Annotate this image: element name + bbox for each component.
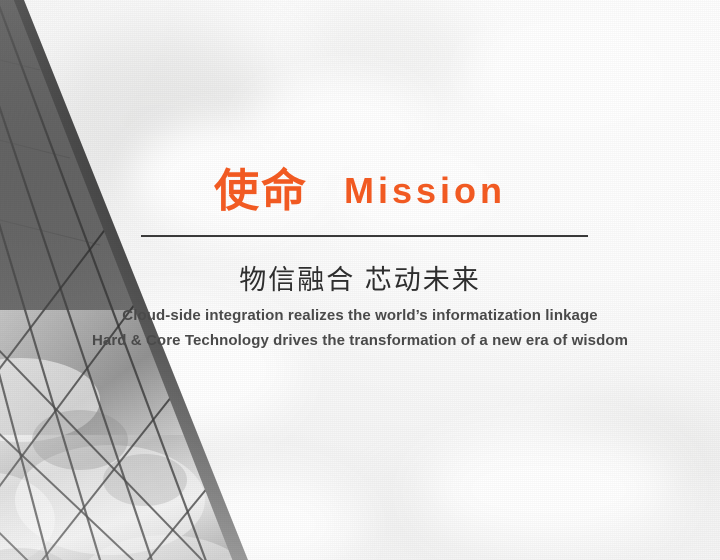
content-layer: 使命Mission 物信融合 芯动未来 Cloud-side integrati… xyxy=(0,0,720,560)
title-divider xyxy=(141,235,588,237)
title-chinese: 使命 xyxy=(214,165,308,216)
title-english: Mission xyxy=(344,170,506,211)
subtitle-chinese: 物信融合 芯动未来 xyxy=(0,258,720,297)
mission-banner: 使命Mission 物信融合 芯动未来 Cloud-side integrati… xyxy=(0,0,720,560)
tagline-line-2: Hard & Core Technology drives the transf… xyxy=(0,328,720,353)
tagline-line-1: Cloud-side integration realizes the worl… xyxy=(0,303,720,328)
tagline-block: Cloud-side integration realizes the worl… xyxy=(0,303,720,353)
page-title: 使命Mission xyxy=(0,168,720,213)
